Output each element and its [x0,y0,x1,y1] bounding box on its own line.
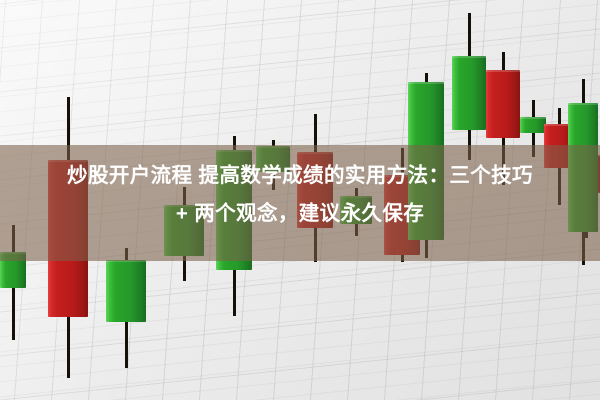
candlestick-body-up [106,260,146,322]
banner-title-line-2: + 两个观念，建议永久保存 [0,195,600,233]
banner-title-line-1: 炒股开户流程 提高数学成绩的实用方法：三个技巧 [0,157,600,195]
candlestick-body-down [486,70,520,138]
candlestick-11 [452,13,486,160]
candlestick-2 [106,248,146,368]
candlestick-body-up [520,117,546,133]
banner-title: 炒股开户流程 提高数学成绩的实用方法：三个技巧 + 两个观念，建议永久保存 [0,157,600,233]
banner-image: 炒股开户流程 提高数学成绩的实用方法：三个技巧 + 两个观念，建议永久保存 [0,0,600,400]
candlestick-body-up [452,56,486,130]
